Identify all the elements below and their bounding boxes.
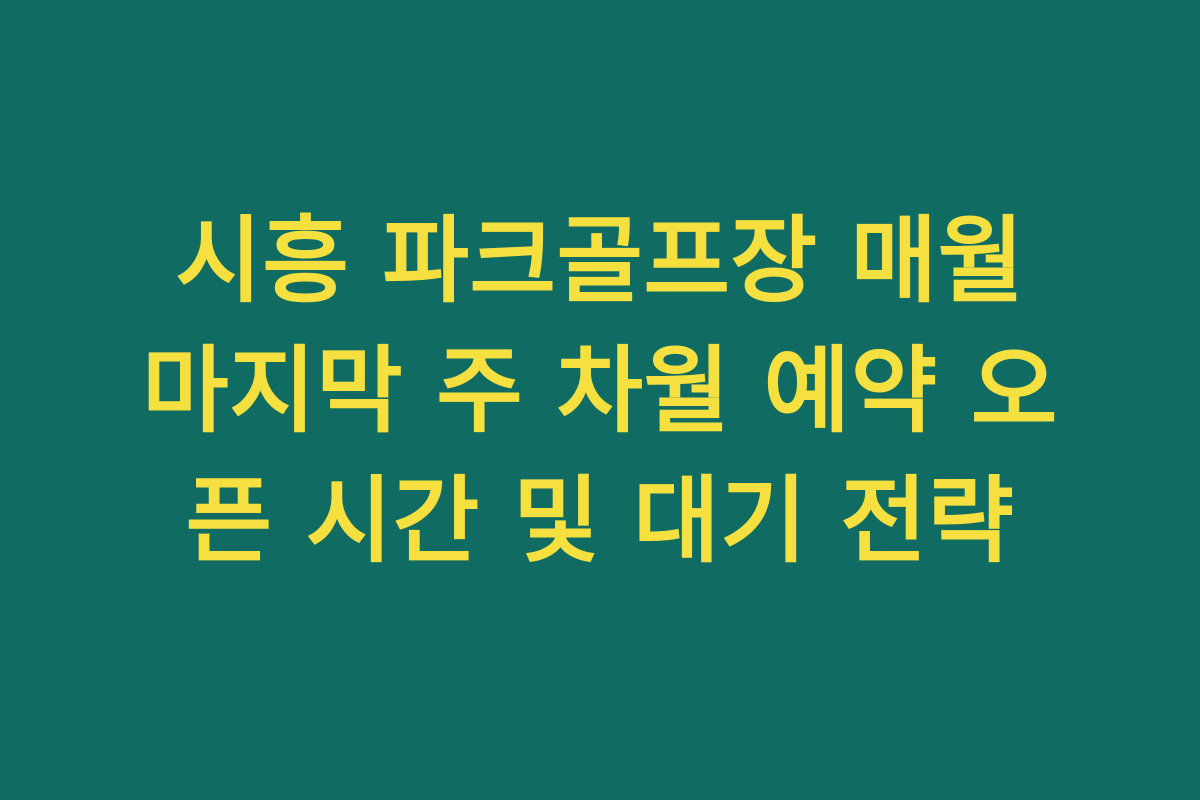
page-title: 시흥 파크골프장 매월 마지막 주 차월 예약 오 픈 시간 및 대기 전략 (140, 197, 1060, 587)
title-line-1: 시흥 파크골프장 매월 (140, 197, 1060, 327)
title-line-2: 마지막 주 차월 예약 오 (140, 327, 1060, 457)
title-banner: 시흥 파크골프장 매월 마지막 주 차월 예약 오 픈 시간 및 대기 전략 (0, 0, 1200, 800)
title-line-3: 픈 시간 및 대기 전략 (140, 457, 1060, 587)
